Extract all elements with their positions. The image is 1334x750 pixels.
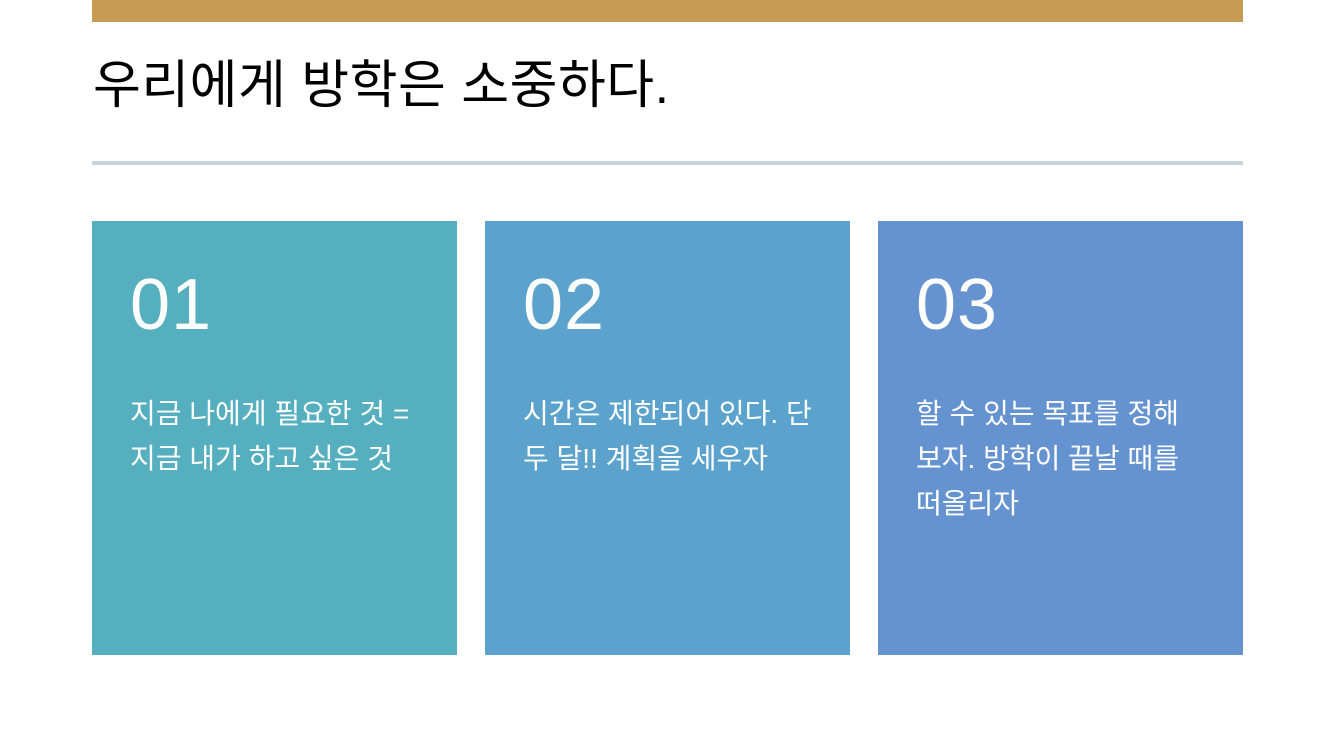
card-02[interactable]: 02 시간은 제한되어 있다. 단 두 달!! 계획을 세우자: [485, 221, 850, 655]
card-number-01: 01: [130, 265, 427, 345]
title-divider-rule: [92, 161, 1243, 165]
card-number-03: 03: [916, 265, 1213, 345]
card-body-02: 시간은 제한되어 있다. 단 두 달!! 계획을 세우자: [523, 391, 823, 481]
card-number-02: 02: [523, 265, 820, 345]
card-01[interactable]: 01 지금 나에게 필요한 것 = 지금 내가 하고 싶은 것: [92, 221, 457, 655]
cards-row: 01 지금 나에게 필요한 것 = 지금 내가 하고 싶은 것 02 시간은 제…: [92, 221, 1243, 655]
slide-canvas: 우리에게 방학은 소중하다. 01 지금 나에게 필요한 것 = 지금 내가 하…: [0, 0, 1334, 750]
card-body-03: 할 수 있는 목표를 정해 보자. 방학이 끝날 때를 떠올리자: [916, 391, 1216, 526]
card-03[interactable]: 03 할 수 있는 목표를 정해 보자. 방학이 끝날 때를 떠올리자: [878, 221, 1243, 655]
page-title: 우리에게 방학은 소중하다.: [93, 50, 1243, 130]
card-body-01: 지금 나에게 필요한 것 = 지금 내가 하고 싶은 것: [130, 391, 430, 481]
top-accent-bar: [92, 0, 1243, 22]
